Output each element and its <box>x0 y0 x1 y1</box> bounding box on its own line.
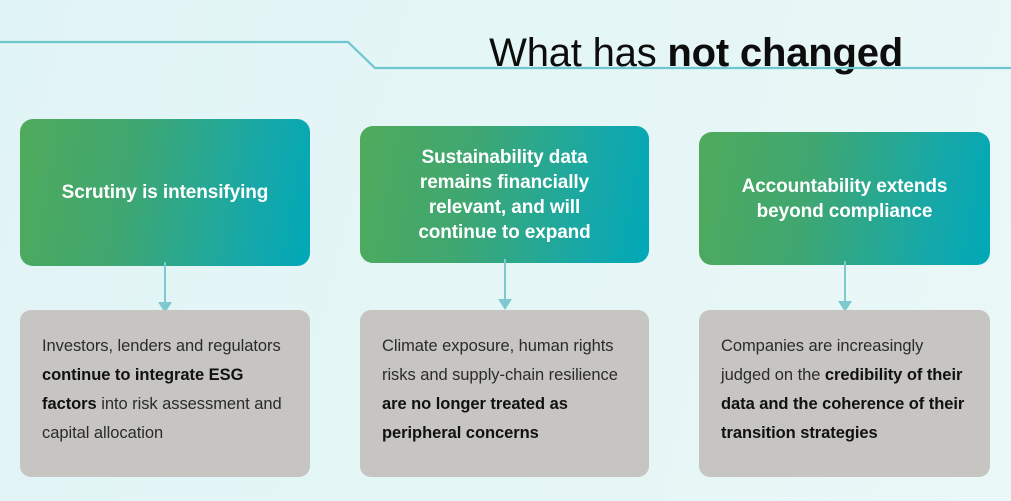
headline-card-label: Sustainability data remains financially … <box>418 145 590 245</box>
column-scrutiny: Scrutiny is intensifying Investors, lend… <box>20 0 310 501</box>
headline-card[interactable]: Scrutiny is intensifying <box>20 119 310 266</box>
detail-note: Investors, lenders and regulators contin… <box>20 310 310 477</box>
headline-card[interactable]: Accountability extends beyond compliance <box>699 132 990 265</box>
detail-note: Climate exposure, human rights risks and… <box>360 310 649 477</box>
columns-container: Scrutiny is intensifying Investors, lend… <box>0 0 1011 501</box>
headline-card-label: Accountability extends beyond compliance <box>742 174 948 224</box>
arrow-down-icon <box>496 259 514 313</box>
detail-note-plain: Investors, lenders and regulators <box>42 337 281 355</box>
slide-canvas: What has not changed Scrutiny is intensi… <box>0 0 1011 501</box>
headline-card[interactable]: Sustainability data remains financially … <box>360 126 649 263</box>
detail-note-text: Climate exposure, human rights risks and… <box>382 332 627 448</box>
headline-card-label: Scrutiny is intensifying <box>62 180 269 205</box>
detail-note: Companies are increasingly judged on the… <box>699 310 990 477</box>
arrow-down-icon <box>156 262 174 316</box>
detail-note-text: Companies are increasingly judged on the… <box>721 332 968 448</box>
column-sustainability-data: Sustainability data remains financially … <box>360 0 649 501</box>
column-accountability: Accountability extends beyond compliance… <box>699 0 990 501</box>
detail-note-text: Investors, lenders and regulators contin… <box>42 332 288 448</box>
arrow-down-icon <box>836 261 854 315</box>
detail-note-emphasis: are no longer treated as peripheral conc… <box>382 395 568 442</box>
detail-note-plain: Climate exposure, human rights risks and… <box>382 337 618 384</box>
